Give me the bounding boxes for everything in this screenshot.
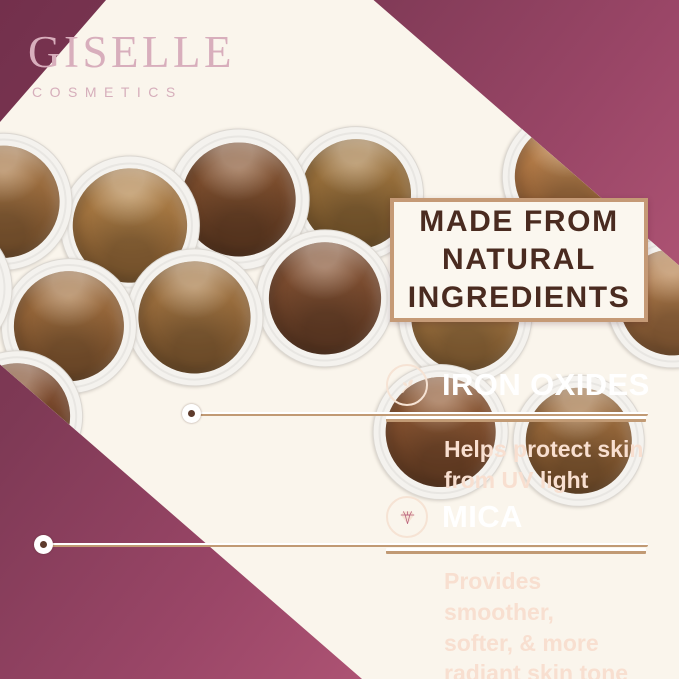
leader-dot-iron-oxides [182, 404, 201, 423]
ingredient-mica: MICA Provides smoother, softer, & more r… [386, 494, 648, 679]
leader-dot-mica [34, 535, 53, 554]
ingredient-title: IRON OXIDES [442, 367, 650, 403]
ingredient-title: MICA [442, 499, 523, 535]
ingredient-iron-oxides: IRON OXIDES Helps protect skin from UV l… [386, 362, 648, 496]
brand-name: GISELLE [28, 30, 235, 75]
ingredient-description: Provides smoother, softer, & more radian… [386, 566, 648, 679]
headline-callout: MADE FROM NATURAL INGREDIENTS [390, 198, 648, 322]
ingredient-header: IRON OXIDES [386, 362, 648, 408]
brand-logo: GISELLE COSMETICS [28, 30, 235, 99]
leaf-icon [386, 364, 428, 406]
promo-graphic: GISELLE COSMETICS MADE FROM NATURAL INGR… [0, 0, 679, 679]
ingredient-divider [386, 416, 646, 422]
headline-text: MADE FROM NATURAL INGREDIENTS [408, 203, 631, 316]
diamond-icon [386, 496, 428, 538]
ingredient-divider [386, 548, 646, 554]
brand-tagline: COSMETICS [28, 85, 235, 99]
ingredient-description: Helps protect skin from UV light [386, 434, 648, 496]
ingredient-header: MICA [386, 494, 648, 540]
